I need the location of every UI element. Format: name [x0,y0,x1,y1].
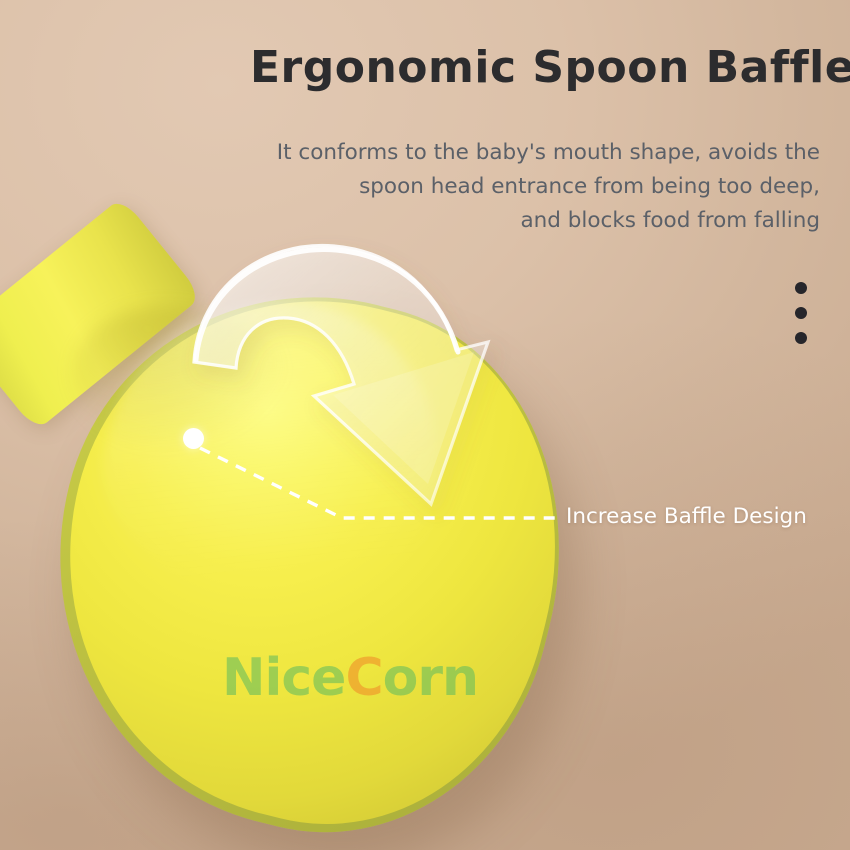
description-line-3: and blocks food from falling [268,204,820,238]
watermark-part-three: orn [383,648,478,708]
spoon-illustration [0,0,850,850]
watermark-part-two: C [345,648,382,708]
description-text: It conforms to the baby's mouth shape, a… [268,136,820,238]
menu-dot-3 [795,332,807,344]
brand-watermark: NiceCorn [222,652,478,704]
page-title: Ergonomic Spoon Baffle [250,42,820,93]
product-feature-image: Ergonomic Spoon Baffle It conforms to th… [0,0,850,850]
menu-dot-1 [795,282,807,294]
menu-dot-2 [795,307,807,319]
description-line-2: spoon head entrance from being too deep, [268,170,820,204]
callout-anchor-dot [183,428,204,449]
watermark-part-one: Nice [222,648,345,708]
callout-label: Increase Baffle Design [566,504,807,529]
description-line-1: It conforms to the baby's mouth shape, a… [268,136,820,170]
more-options-icon[interactable] [794,282,808,344]
